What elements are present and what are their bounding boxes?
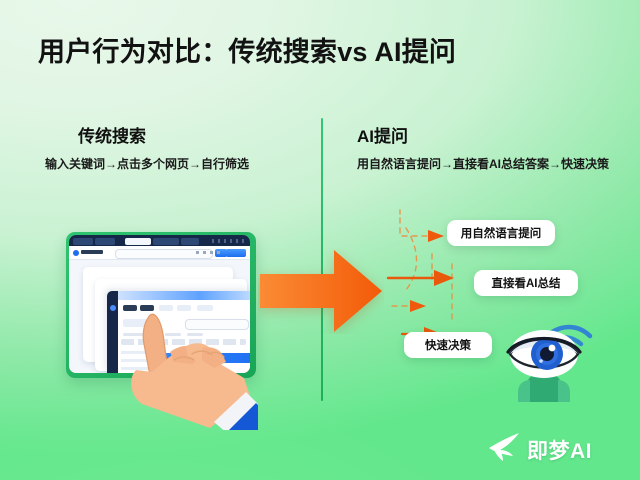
callout-label: 用自然语言提问: [461, 225, 542, 241]
connector-arrowhead-icon: [428, 230, 444, 242]
browser-tab-active: [125, 238, 151, 245]
slide-canvas: 用户行为对比：传统搜索vs AI提问 传统搜索 输入关键词→点击多个网页→自行筛…: [0, 0, 640, 480]
transition-arrow-icon: [258, 248, 384, 334]
pointing-hand-illustration: [118, 300, 258, 430]
jimeng-logo-icon: [487, 432, 521, 467]
callout-box-1: 用自然语言提问: [447, 220, 555, 246]
right-column-body: 用自然语言提问→直接看AI总结答案→快速决策: [357, 155, 625, 174]
ai-robot-mascot-icon: [492, 304, 596, 408]
callout-box-2: 直接看AI总结: [474, 270, 578, 296]
window-controls-icon: [212, 239, 246, 243]
site-logo-icon: [73, 250, 79, 256]
watermark-text: 即梦AI: [527, 435, 592, 465]
browser-tab: [73, 238, 93, 245]
connector-arrowhead-icon: [434, 270, 454, 286]
app-sidebar: [107, 291, 118, 373]
toolbar-icons: [196, 251, 222, 254]
browser-tab: [95, 238, 115, 245]
left-column-body: 输入关键词→点击多个网页→自行筛选: [45, 155, 297, 174]
callout-box-3: 快速决策: [404, 332, 492, 358]
primary-cta-button: [226, 249, 246, 257]
browser-tab: [181, 238, 199, 245]
left-column-heading: 传统搜索: [78, 122, 146, 147]
window-header-strip: [118, 291, 250, 300]
site-brand-placeholder: [81, 250, 103, 254]
browser-address-bar: [69, 246, 250, 260]
watermark: 即梦AI: [487, 432, 592, 467]
sidebar-logo-icon: [110, 305, 116, 311]
connector-arrowhead-icon: [410, 300, 426, 312]
page-title: 用户行为对比：传统搜索vs AI提问: [38, 30, 456, 69]
callout-label: 快速决策: [425, 337, 471, 353]
browser-title-bar: [69, 235, 250, 246]
browser-tab: [153, 238, 179, 245]
callout-label: 直接看AI总结: [492, 275, 561, 291]
right-column-heading: AI提问: [357, 122, 408, 147]
